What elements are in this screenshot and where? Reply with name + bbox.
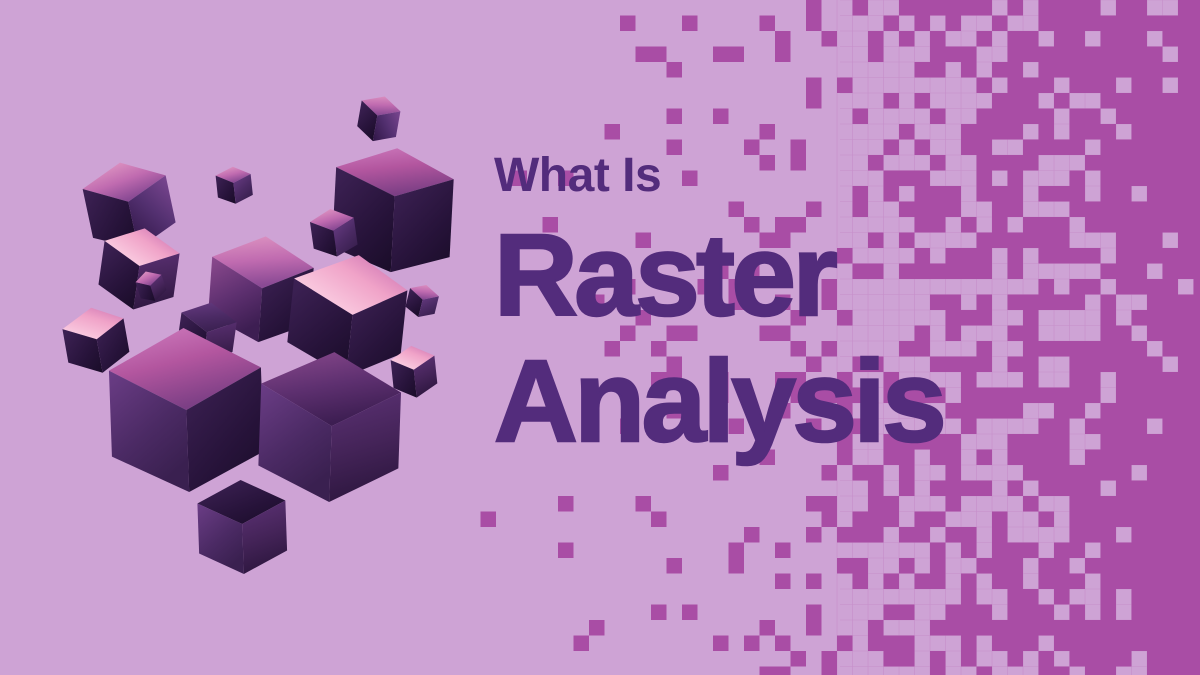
headline-block: What Is Raster Analysis (494, 152, 964, 461)
cube-accent-a (404, 281, 441, 320)
cube-big-dark-bottom (257, 350, 402, 505)
cube-big-magenta (108, 325, 266, 494)
page-title-line-2: Analysis (494, 342, 964, 460)
page-title-line-1: Raster (494, 216, 964, 334)
cube-bottom-small (197, 478, 288, 575)
poster-canvas: What Is Raster Analysis (0, 0, 1200, 675)
cube-tiny-a (215, 165, 254, 205)
cube-group (60, 93, 456, 576)
cube-large-right-top (331, 145, 455, 275)
floating-cubes-illustration (0, 0, 520, 675)
cube-small-top (355, 93, 402, 145)
eyebrow-text: What Is (494, 152, 964, 200)
